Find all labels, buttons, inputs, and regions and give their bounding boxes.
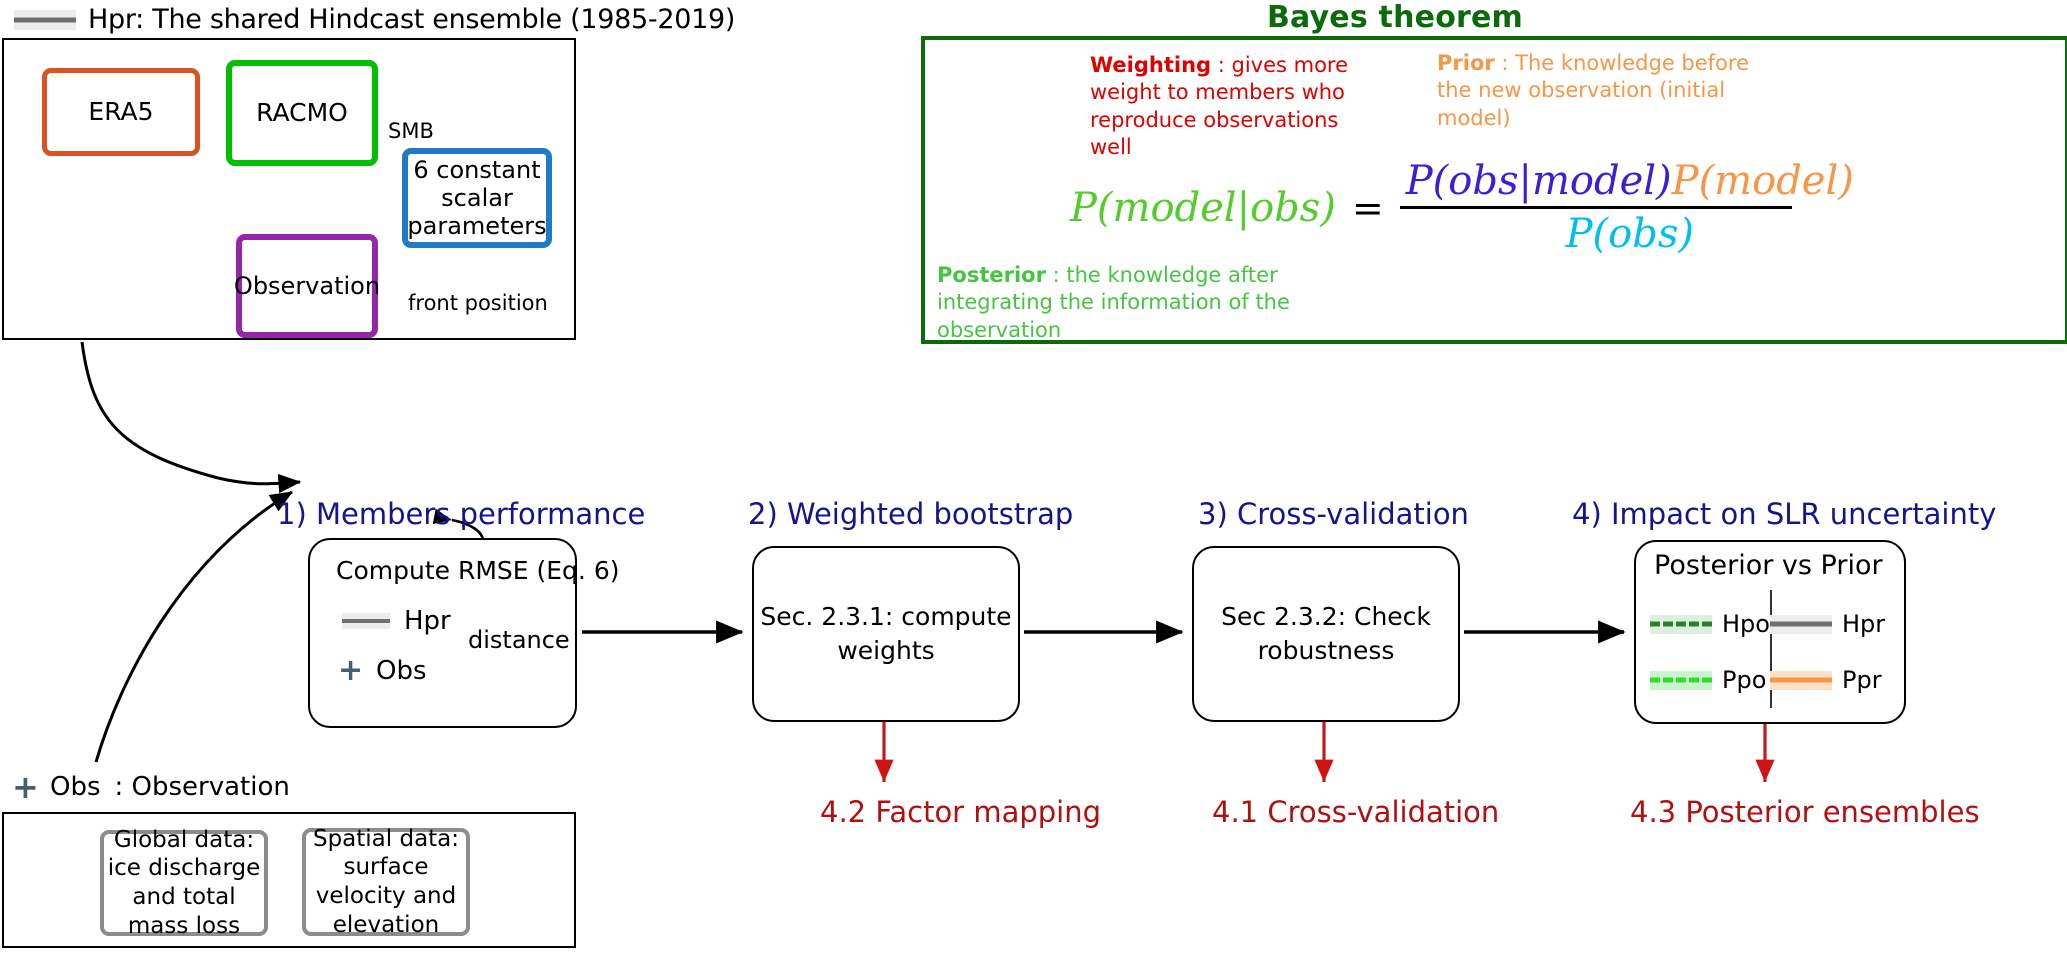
note-posterior-sep: :: [1046, 263, 1066, 287]
step1-obs-label: Obs: [376, 656, 427, 686]
formula-prior: P(model): [1672, 158, 1854, 204]
label-front-position: front position: [408, 292, 548, 316]
note-weighting-sep: :: [1211, 53, 1231, 77]
legend-label-hpr: Hpr: [1842, 610, 1885, 638]
hpr-line-marker-icon: [342, 613, 390, 629]
plus-marker-icon: +: [338, 656, 362, 686]
note-weighting: Weighting : gives more weight to members…: [1090, 52, 1350, 161]
formula-evidence: P(obs): [1566, 211, 1694, 257]
box-era5[interactable]: ERA5: [42, 68, 200, 156]
legend-label-hpo: Hpo: [1722, 610, 1770, 638]
step-header-2: 2) Weighted bootstrap: [748, 497, 1073, 531]
step1-distance-label: distance: [468, 626, 570, 654]
curve-obs-to-step1: [96, 492, 292, 762]
note-prior-term: Prior: [1437, 51, 1495, 75]
curve-hindcast-to-step1-head: [218, 478, 300, 484]
ppo-dashed-line-icon: [1650, 671, 1712, 690]
hpr-solid-line-icon: [1770, 615, 1832, 634]
box-observation[interactable]: Observation: [236, 234, 378, 338]
step-header-3: 3) Cross-validation: [1198, 497, 1469, 531]
step-box-members-performance[interactable]: Compute RMSE (Eq. 6) Hpr + Obs distance: [308, 538, 577, 728]
legend-item-hpr: Hpr: [1770, 596, 1890, 652]
formula-numerator: P(obs|model)P(model): [1400, 158, 1860, 206]
formula-fraction: P(obs|model)P(model) P(obs): [1400, 158, 1860, 257]
observation-data-panel: Global data: ice discharge and total mas…: [2, 812, 576, 948]
step4-title: Posterior vs Prior: [1654, 550, 1883, 581]
box-parameters[interactable]: 6 constant scalar parameters: [402, 148, 552, 248]
obs-legend-label: Obs: [50, 772, 101, 802]
formula-posterior: P(model|obs): [1070, 185, 1336, 231]
label-smb: SMB: [388, 120, 434, 144]
step-box-cross-validation[interactable]: Sec 2.3.2: Check robustness: [1192, 546, 1460, 722]
hpr-line-marker-icon: [14, 10, 76, 30]
step-box-weighted-bootstrap[interactable]: Sec. 2.3.1: compute weights: [752, 546, 1020, 722]
formula-equals: =: [1352, 186, 1384, 230]
legend-label-ppo: Ppo: [1722, 666, 1766, 694]
step1-hpr-label: Hpr: [404, 606, 451, 636]
data-box-spatial[interactable]: Spatial data: surface velocity and eleva…: [302, 828, 470, 936]
step1-item-hpr: Hpr: [342, 606, 451, 636]
step1-title: Compute RMSE (Eq. 6): [336, 556, 619, 585]
plus-marker-icon: +: [12, 771, 36, 803]
output-label-cross-validation: 4.1 Cross-validation: [1212, 795, 1499, 829]
legend-item-ppr: Ppr: [1770, 652, 1890, 708]
data-box-global[interactable]: Global data: ice discharge and total mas…: [100, 830, 268, 936]
bayes-formula: P(model|obs) = P(obs|model)P(model) P(ob…: [1070, 158, 1860, 257]
note-posterior: Posterior : the knowledge after integrat…: [937, 262, 1317, 344]
step-box-impact-slr-uncertainty[interactable]: Posterior vs Prior Hpo Hpr Ppo Ppr: [1634, 540, 1906, 724]
curve-hindcast-to-step1: [82, 342, 218, 478]
hpr-legend-label: Hpr: The shared Hindcast ensemble (1985-…: [88, 4, 735, 35]
step-header-4: 4) Impact on SLR uncertainty: [1572, 497, 1996, 531]
step2-body: Sec. 2.3.1: compute weights: [754, 600, 1018, 668]
hindcast-construction-panel: ERA5 RACMO 6 constant scalar parameters …: [2, 38, 576, 340]
formula-denominator: P(obs): [1400, 209, 1860, 257]
legend-item-hpo: Hpo: [1650, 596, 1770, 652]
formula-likelihood: P(obs|model): [1406, 158, 1672, 204]
step3-body: Sec 2.3.2: Check robustness: [1194, 600, 1458, 668]
note-posterior-term: Posterior: [937, 263, 1046, 287]
note-prior-sep: :: [1495, 51, 1515, 75]
legend-item-ppo: Ppo: [1650, 652, 1770, 708]
legend-label-ppr: Ppr: [1842, 666, 1882, 694]
step-header-1: 1) Members performance: [277, 497, 645, 531]
hpo-dashed-line-icon: [1650, 615, 1712, 634]
bayes-theorem-panel: Weighting : gives more weight to members…: [921, 36, 2067, 344]
box-racmo[interactable]: RACMO: [226, 60, 378, 166]
step4-legend: Hpo Hpr Ppo Ppr: [1650, 596, 1890, 708]
obs-legend-description: : Observation: [115, 772, 290, 802]
ppr-solid-line-icon: [1770, 671, 1832, 690]
obs-legend: + Obs : Observation: [12, 771, 290, 803]
output-label-posterior-ensembles: 4.3 Posterior ensembles: [1630, 795, 1980, 829]
step1-item-obs: + Obs: [338, 656, 427, 686]
note-prior: Prior : The knowledge before the new obs…: [1437, 50, 1777, 132]
hpr-legend: Hpr: The shared Hindcast ensemble (1985-…: [14, 4, 735, 35]
note-weighting-term: Weighting: [1090, 53, 1211, 77]
bayes-theorem-title: Bayes theorem: [1245, 0, 1545, 35]
output-label-factor-mapping: 4.2 Factor mapping: [820, 795, 1101, 829]
